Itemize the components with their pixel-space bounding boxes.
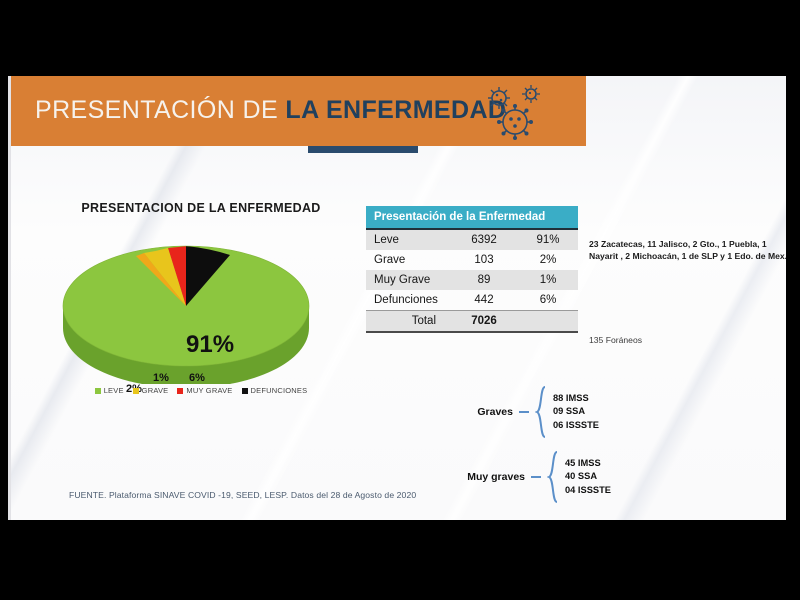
legend-label-defunciones: DEFUNCIONES xyxy=(251,386,308,395)
legend-label-leve: LEVE xyxy=(104,386,124,395)
legend-swatch-leve xyxy=(95,388,101,394)
states-breakdown-note: 23 Zacatecas, 11 Jalisco, 2 Gto., 1 Pueb… xyxy=(589,239,786,262)
row-label-defunciones: Defunciones xyxy=(366,290,450,311)
row-pct-grave: 2% xyxy=(518,250,578,270)
total-label: Total xyxy=(366,311,450,333)
legend-label-grave: GRAVE xyxy=(142,386,169,395)
graves-item-ssa: 09 SSA xyxy=(553,405,599,418)
table-header-row: Presentación de la Enfermedad xyxy=(366,206,578,229)
row-pct-defunciones: 6% xyxy=(518,290,578,311)
row-label-leve: Leve xyxy=(366,229,450,250)
pie-label-leve: 91% xyxy=(186,331,234,359)
table-total-row: Total 7026 xyxy=(366,311,578,333)
disease-presentation-table: Presentación de la Enfermedad Leve 6392 … xyxy=(366,206,578,333)
presentation-slide: PRESENTACIÓN DE LA ENFERMEDAD xyxy=(8,76,786,520)
total-pct-empty xyxy=(518,311,578,333)
page-title: PRESENTACIÓN DE LA ENFERMEDAD xyxy=(35,96,506,125)
row-pct-muy-grave: 1% xyxy=(518,270,578,290)
row-count-muy-grave: 89 xyxy=(450,270,518,290)
pie-chart-svg xyxy=(41,224,331,384)
muy-graves-label: Muy graves xyxy=(441,471,525,483)
legend-item-muy-grave: MUY GRAVE xyxy=(177,386,232,395)
page-title-regular: PRESENTACIÓN DE xyxy=(35,96,285,124)
source-footer: FUENTE. Plataforma SINAVE COVID -19, SEE… xyxy=(69,490,416,500)
table-row: Grave 103 2% xyxy=(366,250,578,270)
muy-graves-item-imss: 45 IMSS xyxy=(565,457,611,470)
legend-item-leve: LEVE xyxy=(95,386,124,395)
muy-graves-items: 45 IMSS 40 SSA 04 ISSSTE xyxy=(565,457,611,497)
table-row: Defunciones 442 6% xyxy=(366,290,578,311)
graves-item-issste: 06 ISSSTE xyxy=(553,419,599,432)
pie-chart: 2% 1% 6% xyxy=(41,224,331,384)
row-count-defunciones: 442 xyxy=(450,290,518,311)
slide-header-banner: PRESENTACIÓN DE LA ENFERMEDAD xyxy=(11,76,586,146)
curly-brace-icon xyxy=(535,386,547,438)
table-header-title: Presentación de la Enfermedad xyxy=(366,206,578,229)
muy-graves-bracket-group: Muy graves 45 IMSS 40 SSA 04 ISSSTE xyxy=(441,451,611,503)
slide-viewer: PRESENTACIÓN DE LA ENFERMEDAD xyxy=(0,0,800,600)
row-label-muy-grave: Muy Grave xyxy=(366,270,450,290)
graves-items: 88 IMSS 09 SSA 06 ISSSTE xyxy=(553,392,599,432)
total-value: 7026 xyxy=(450,311,518,333)
legend-label-muy-grave: MUY GRAVE xyxy=(186,386,232,395)
row-label-grave: Grave xyxy=(366,250,450,270)
legend-item-defunciones: DEFUNCIONES xyxy=(242,386,308,395)
table-row: Muy Grave 89 1% xyxy=(366,270,578,290)
graves-bracket-group: Graves 88 IMSS 09 SSA 06 ISSSTE xyxy=(441,386,599,438)
row-count-leve: 6392 xyxy=(450,229,518,250)
table-row: Leve 6392 91% xyxy=(366,229,578,250)
legend-item-grave: GRAVE xyxy=(133,386,169,395)
row-count-grave: 103 xyxy=(450,250,518,270)
foraneos-note: 135 Foráneos xyxy=(589,335,642,345)
graves-connector xyxy=(519,411,529,413)
page-title-bold: LA ENFERMEDAD xyxy=(285,96,506,124)
chart-legend: LEVE GRAVE MUY GRAVE DEFUNCIONES xyxy=(61,386,341,395)
muy-graves-item-issste: 04 ISSSTE xyxy=(565,484,611,497)
legend-swatch-defunciones xyxy=(242,388,248,394)
virus-icon xyxy=(479,82,559,142)
muy-graves-connector xyxy=(531,476,541,478)
graves-item-imss: 88 IMSS xyxy=(553,392,599,405)
title-underline-bar xyxy=(308,146,418,153)
pie-label-defunciones: 6% xyxy=(189,372,205,384)
row-pct-leve: 91% xyxy=(518,229,578,250)
chart-title: PRESENTACION DE LA ENFERMEDAD xyxy=(71,201,331,215)
legend-swatch-muy-grave xyxy=(177,388,183,394)
curly-brace-icon xyxy=(547,451,559,503)
graves-label: Graves xyxy=(441,406,513,418)
pie-label-muy-grave: 1% xyxy=(153,372,169,384)
muy-graves-item-ssa: 40 SSA xyxy=(565,470,611,483)
legend-swatch-grave xyxy=(133,388,139,394)
